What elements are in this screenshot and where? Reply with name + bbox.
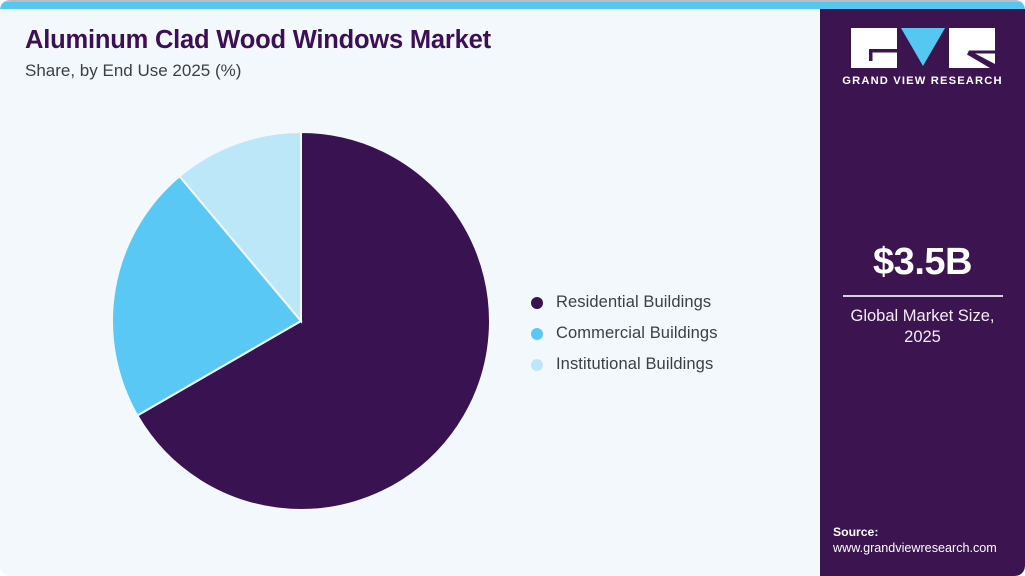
title-group: Aluminum Clad Wood Windows Market Share,… [25,26,785,80]
source-label: Source: [833,524,1025,540]
legend-label-residential: Residential Buildings [556,293,711,312]
market-size-value: $3.5B [820,243,1025,281]
pie-chart-svg [111,131,491,511]
chart-panel: Aluminum Clad Wood Windows Market Share,… [0,9,820,576]
page-title: Aluminum Clad Wood Windows Market [25,26,785,55]
source-block: Source: www.grandviewresearch.com [833,524,1025,557]
legend-swatch-residential-icon [531,297,543,309]
brand-logo: GRAND VIEW RESEARCH [820,28,1025,87]
chart-legend: Residential Buildings Commercial Buildin… [531,287,811,380]
gvr-logo-icon [851,28,995,68]
infographic-card: Aluminum Clad Wood Windows Market Share,… [0,0,1025,576]
legend-item-residential[interactable]: Residential Buildings [531,287,811,318]
legend-label-commercial: Commercial Buildings [556,324,718,343]
market-size-caption: Global Market Size, 2025 [820,306,1025,348]
legend-item-commercial[interactable]: Commercial Buildings [531,318,811,349]
legend-swatch-institutional-icon [531,359,543,371]
brand-wordmark: GRAND VIEW RESEARCH [820,75,1025,87]
brand-panel: GRAND VIEW RESEARCH $3.5B Global Market … [820,9,1025,576]
pie-chart [111,131,491,511]
stat-divider [843,295,1003,297]
legend-item-institutional[interactable]: Institutional Buildings [531,349,811,380]
source-url[interactable]: www.grandviewresearch.com [833,540,1025,557]
market-size-stat: $3.5B Global Market Size, 2025 [820,243,1025,348]
legend-label-institutional: Institutional Buildings [556,355,713,374]
legend-swatch-commercial-icon [531,328,543,340]
accent-bar [0,2,1025,9]
page-subtitle: Share, by End Use 2025 (%) [25,61,785,81]
